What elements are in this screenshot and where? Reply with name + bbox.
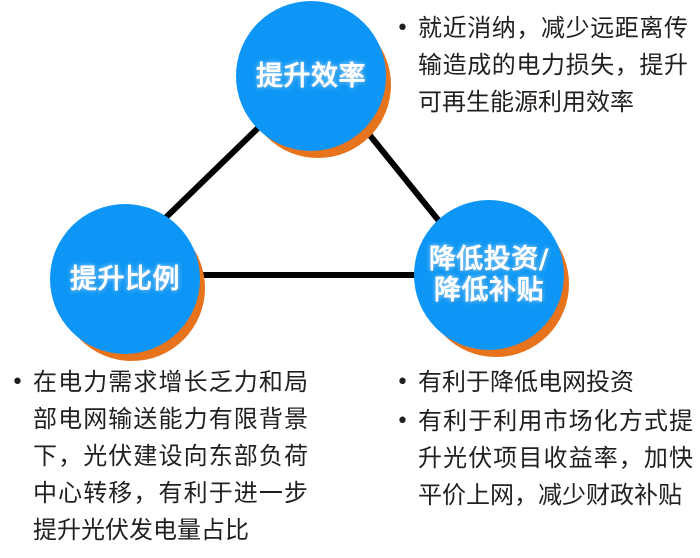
text-block-top-right: • 就近消纳，减少远距离传输造成的电力损失，提升可再生能源利用效率 [393,10,688,121]
connector-efficiency-to-invest [364,128,443,226]
text-block-bottom-left: • 在电力需求增长乏力和局部电网输送能力有限背景下，光伏建设向东部负荷中心转移，… [8,364,308,549]
node-efficiency[interactable]: 提升效率 [236,1,386,151]
list-item-text: 有利于降低电网投资 [418,364,693,401]
list-item-text: 在电力需求增长乏力和局部电网输送能力有限背景下，光伏建设向东部负荷中心转移，有利… [33,364,308,549]
bullet-icon: • [8,364,33,401]
text-block-bottom-right: • 有利于降低电网投资 • 有利于利用市场化方式提升光伏项目收益率，加快平价上网… [393,364,693,514]
bullet-icon: • [393,403,418,440]
list-item: • 有利于降低电网投资 [393,364,693,401]
list-item: • 就近消纳，减少远距离传输造成的电力损失，提升可再生能源利用效率 [393,10,688,121]
bullet-icon: • [393,364,418,401]
diagram-canvas: 提升效率 提升比例 降低投资/ 降低补贴 • 就近消纳，减少远距离传输造成的电力… [0,0,700,558]
connector-ratio-to-efficiency [155,128,258,228]
node-reduce-investment[interactable]: 降低投资/ 降低补贴 [414,200,564,350]
node-efficiency-label: 提升效率 [250,61,372,92]
node-ratio[interactable]: 提升比例 [50,204,200,354]
list-item: • 在电力需求增长乏力和局部电网输送能力有限背景下，光伏建设向东部负荷中心转移，… [8,364,308,549]
list-item-text: 就近消纳，减少远距离传输造成的电力损失，提升可再生能源利用效率 [418,10,688,121]
list-item-text: 有利于利用市场化方式提升光伏项目收益率，加快平价上网，减少财政补贴 [418,403,693,514]
bullet-icon: • [393,10,418,47]
node-reduce-investment-label: 降低投资/ 降低补贴 [423,244,555,306]
list-item: • 有利于利用市场化方式提升光伏项目收益率，加快平价上网，减少财政补贴 [393,403,693,514]
node-ratio-label: 提升比例 [64,264,186,295]
